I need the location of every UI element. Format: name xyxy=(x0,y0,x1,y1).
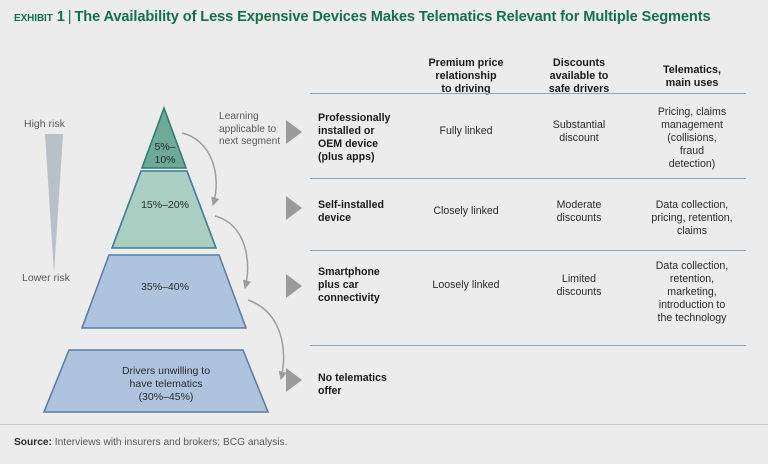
row-3-uses: Data collection, retention, marketing, i… xyxy=(636,260,748,325)
exhibit-number: Exhibit 1 xyxy=(14,9,65,25)
row-1-segment: Professionally installed or OEM device (… xyxy=(318,112,414,164)
row-marker-arrow-2 xyxy=(286,196,302,220)
row-1-discounts: Substantial discount xyxy=(526,119,632,145)
exhibit-canvas: Exhibit 1|The Availability of Less Expen… xyxy=(0,0,768,464)
source-note: Source: Interviews with insurers and bro… xyxy=(14,437,287,448)
pyramid-tier-2-label: 15%–20% xyxy=(110,199,220,212)
row-marker-arrow-4 xyxy=(286,368,302,392)
column-header-discounts: Discounts available to safe drivers xyxy=(528,57,630,95)
row-1-premium: Fully linked xyxy=(408,125,524,138)
row-3-premium: Loosely linked xyxy=(408,279,524,292)
row-2-discounts: Moderate discounts xyxy=(526,199,632,225)
title-heading: The Availability of Less Expensive Devic… xyxy=(74,9,710,25)
pyramid-tier-3-label: 35%–40% xyxy=(90,281,240,294)
title-separator: | xyxy=(65,9,75,25)
row-1-uses: Pricing, claims management (collisions, … xyxy=(636,106,748,171)
row-2-segment: Self-installed device xyxy=(318,199,414,225)
row-divider-1 xyxy=(310,178,746,179)
pyramid-tier-1-label: 5%– 10% xyxy=(142,141,188,167)
row-3-segment: Smartphone plus car connectivity xyxy=(318,266,414,305)
row-4-segment: No telematics offer xyxy=(318,372,414,398)
row-divider-2 xyxy=(310,250,746,251)
source-text: Interviews with insurers and brokers; BC… xyxy=(55,437,288,448)
row-2-premium: Closely linked xyxy=(408,205,524,218)
column-header-premium-price: Premium price relationship to driving xyxy=(410,57,522,95)
row-3-discounts: Limited discounts xyxy=(526,273,632,299)
row-2-uses: Data collection, pricing, retention, cla… xyxy=(636,199,748,238)
row-marker-arrow-3 xyxy=(286,274,302,298)
footer-divider xyxy=(0,424,768,425)
row-divider-3 xyxy=(310,345,746,346)
row-marker-arrow-1 xyxy=(286,120,302,144)
source-label: Source: xyxy=(14,437,52,448)
page-title: Exhibit 1|The Availability of Less Expen… xyxy=(14,7,756,27)
row-divider-top xyxy=(310,93,746,94)
column-header-telematics-uses: Telematics, main uses xyxy=(638,64,746,90)
pyramid-tier-4-label: Drivers unwilling to have telematics (30… xyxy=(68,365,264,404)
